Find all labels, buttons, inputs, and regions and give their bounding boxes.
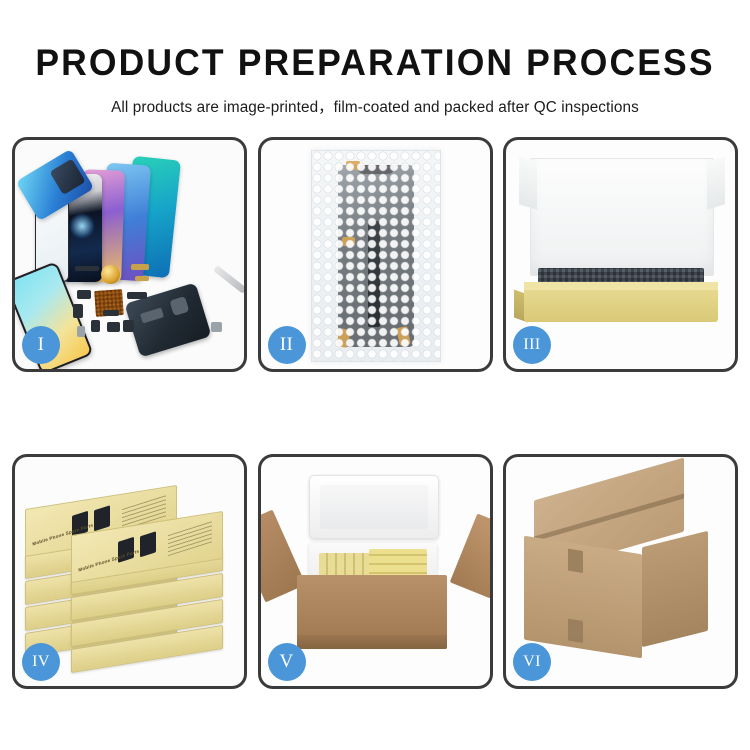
foam-lid-icon (309, 475, 439, 539)
bubble-bag-icon (311, 150, 441, 362)
step-panel-4: Mobile Phone Spare Parts Mobile Phone Sp… (12, 454, 247, 689)
small-part (73, 304, 83, 318)
step-panel-2: II (258, 137, 493, 372)
small-part (77, 290, 91, 299)
product-preparation-process-page: PRODUCT PREPARATION PROCESS All products… (0, 0, 750, 750)
tweezers-icon (213, 265, 244, 294)
speaker-coil-icon (101, 265, 120, 284)
open-carton-icon (297, 575, 447, 649)
step-badge-5: V (268, 643, 306, 681)
step-badge-1: I (22, 326, 60, 364)
step-badge-6: VI (513, 643, 551, 681)
step-panel-1: I (12, 137, 247, 372)
small-part (75, 266, 99, 271)
step-badge-4: IV (22, 643, 60, 681)
white-box-lid-icon (530, 158, 714, 276)
small-part (127, 292, 147, 299)
small-part (135, 276, 149, 281)
step-panel-6: VI (503, 454, 738, 689)
step-panel-3: III (503, 137, 738, 372)
box-stack-icon: Mobile Phone Spare Parts Mobile Phone Sp… (21, 471, 239, 671)
box-thumbnail (140, 531, 156, 557)
carton-flap-right (449, 513, 489, 598)
carton-front-face (524, 536, 642, 659)
box-label-text: Mobile Phone Spare Parts (78, 549, 140, 573)
carton-tape (568, 619, 583, 643)
small-part (77, 326, 85, 337)
step-badge-2: II (268, 326, 306, 364)
small-part (123, 320, 134, 332)
small-part (211, 322, 222, 332)
camera-module-icon (169, 296, 189, 316)
small-part (91, 320, 100, 332)
small-part (107, 322, 120, 332)
backplate-detail (140, 307, 164, 323)
bubble-texture (312, 151, 440, 361)
yellow-box-base-icon (524, 290, 718, 322)
header: PRODUCT PREPARATION PROCESS All products… (0, 0, 750, 117)
step-badge-3: III (513, 326, 551, 364)
box-thumbnail (94, 505, 110, 531)
carton-tape (568, 549, 583, 573)
page-title: PRODUCT PREPARATION PROCESS (15, 0, 735, 84)
page-subtitle: All products are image-printed，film-coat… (0, 84, 750, 117)
process-steps-grid: I II (12, 137, 738, 689)
box-spec-lines (168, 520, 212, 556)
small-part (103, 310, 119, 316)
carton-side-face (642, 531, 708, 647)
small-part (131, 264, 149, 270)
step-panel-5: V (258, 454, 493, 689)
